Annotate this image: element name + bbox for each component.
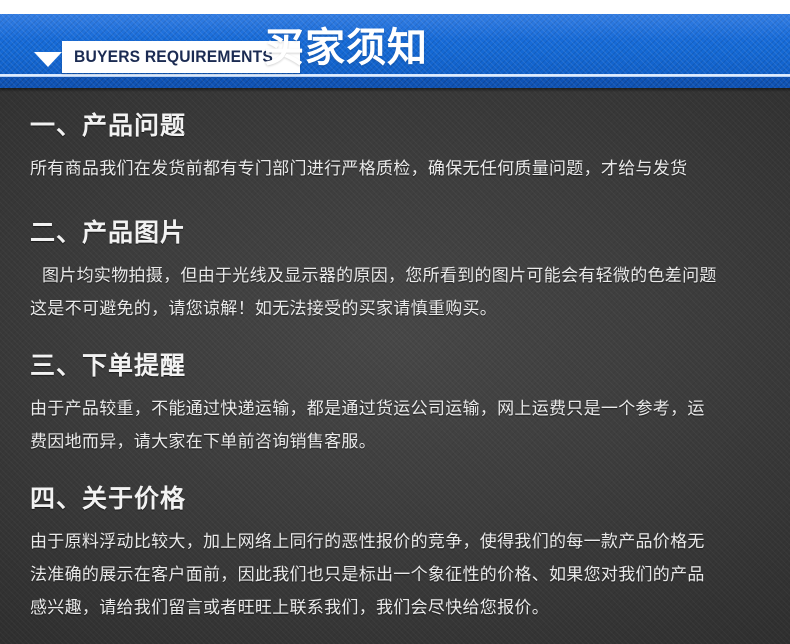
section-heading: 一、产品问题: [0, 106, 790, 142]
section-heading: 四、关于价格: [0, 479, 790, 515]
section-body: 所有商品我们在发货前都有专门部门进行严格质检，确保无任何质量问题，才给与发货: [0, 153, 790, 186]
content-area: 一、产品问题 所有商品我们在发货前都有专门部门进行严格质检，确保无任何质量问题，…: [0, 88, 790, 644]
top-white-gap: [0, 0, 790, 14]
section-line: 这是不可避免的，请您谅解！如无法接受的买家请慎重购买。: [0, 293, 790, 326]
section-heading: 三、下单提醒: [0, 346, 790, 382]
buyers-requirements-page: BUYERS REQUIREMENTS 买家须知 一、产品问题 所有商品我们在发…: [0, 0, 790, 644]
section-body: 图片均实物拍摄，但由于光线及显示器的原因，您所看到的图片可能会有轻微的色差问题 …: [0, 260, 790, 326]
section-line: 所有商品我们在发货前都有专门部门进行严格质检，确保无任何质量问题，才给与发货: [0, 153, 790, 186]
section-line: 费因地而异，请大家在下单前咨询销售客服。: [0, 426, 790, 459]
section-body: 由于产品较重，不能通过快递运输，都是通过货运公司运输，网上运费只是一个参考，运 …: [0, 393, 790, 459]
section-product-issues: 一、产品问题 所有商品我们在发货前都有专门部门进行严格质检，确保无任何质量问题，…: [0, 106, 790, 186]
section-body: 由于原料浮动比较大，加上网络上同行的恶性报价的竞争，使得我们的每一款产品价格无 …: [0, 526, 790, 625]
section-line: 由于产品较重，不能通过快递运输，都是通过货运公司运输，网上运费只是一个参考，运: [0, 393, 790, 426]
section-about-price: 四、关于价格 由于原料浮动比较大，加上网络上同行的恶性报价的竞争，使得我们的每一…: [0, 479, 790, 625]
page-title: 买家须知: [264, 25, 428, 71]
section-line: 由于原料浮动比较大，加上网络上同行的恶性报价的竞争，使得我们的每一款产品价格无: [0, 526, 790, 559]
banner-lower-strip: [0, 77, 790, 88]
content-top-shadow: [0, 88, 790, 92]
triangle-down-icon: [34, 52, 62, 67]
english-label-text: BUYERS REQUIREMENTS: [74, 47, 273, 67]
section-product-photos: 二、产品图片 图片均实物拍摄，但由于光线及显示器的原因，您所看到的图片可能会有轻…: [0, 213, 790, 326]
section-order-reminder: 三、下单提醒 由于产品较重，不能通过快递运输，都是通过货运公司运输，网上运费只是…: [0, 346, 790, 459]
section-line: 法准确的展示在客户面前，因此我们也只是标出一个象征性的价格、如果您对我们的产品: [0, 559, 790, 592]
section-line: 图片均实物拍摄，但由于光线及显示器的原因，您所看到的图片可能会有轻微的色差问题: [0, 260, 790, 293]
section-heading: 二、产品图片: [0, 213, 790, 249]
section-line: 感兴趣，请给我们留言或者旺旺上联系我们，我们会尽快给您报价。: [0, 592, 790, 625]
